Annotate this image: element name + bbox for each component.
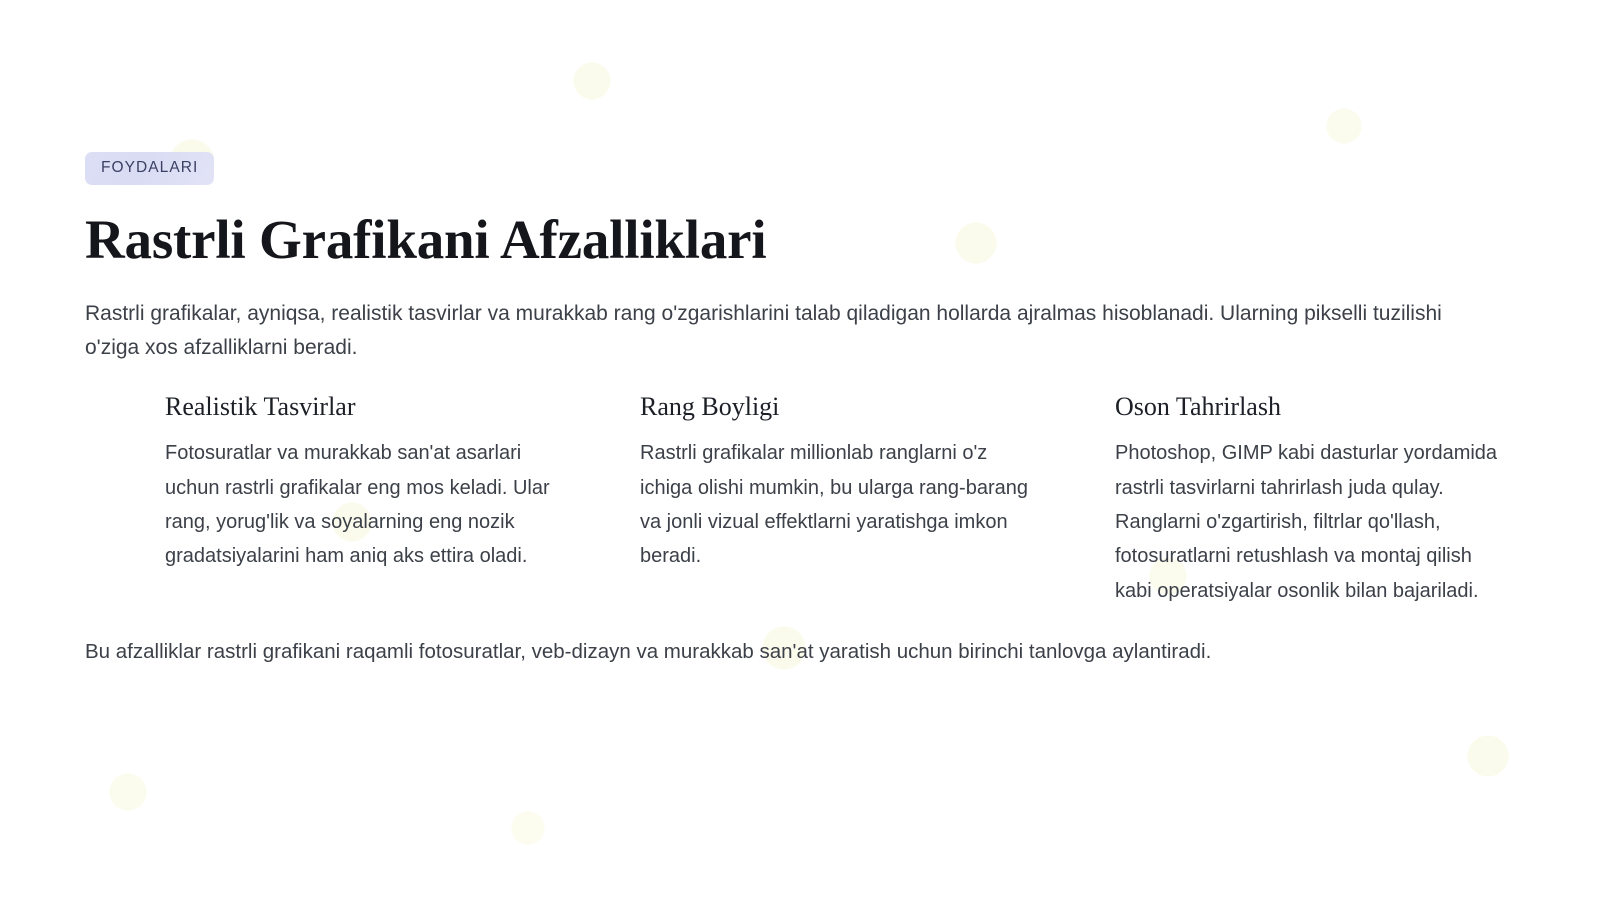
feature-body: Rastrli grafikalar millionlab ranglarni …	[640, 436, 1035, 574]
slide-canvas: FOYDALARI Rastrli Grafikani Afzalliklari…	[0, 0, 1600, 900]
outro-paragraph: Bu afzalliklar rastrli grafikani raqamli…	[85, 636, 1515, 669]
feature-column-oson-tahrirlash: Oson Tahrirlash Photoshop, GIMP kabi das…	[1115, 391, 1510, 608]
intro-paragraph: Rastrli grafikalar, ayniqsa, realistik t…	[85, 297, 1485, 365]
feature-columns: Realistik Tasvirlar Fotosuratlar va mura…	[165, 391, 1515, 608]
section-eyebrow-badge: FOYDALARI	[85, 152, 214, 185]
feature-title: Oson Tahrirlash	[1115, 391, 1510, 422]
feature-column-realistik-tasvirlar: Realistik Tasvirlar Fotosuratlar va mura…	[165, 391, 560, 608]
content-container: FOYDALARI Rastrli Grafikani Afzalliklari…	[85, 152, 1515, 669]
feature-body: Fotosuratlar va murakkab san'at asarlari…	[165, 436, 560, 574]
feature-body: Photoshop, GIMP kabi dasturlar yordamida…	[1115, 436, 1510, 608]
feature-column-rang-boyligi: Rang Boyligi Rastrli grafikalar millionl…	[640, 391, 1035, 608]
feature-title: Rang Boyligi	[640, 391, 1035, 422]
feature-title: Realistik Tasvirlar	[165, 391, 560, 422]
page-title: Rastrli Grafikani Afzalliklari	[85, 209, 1515, 271]
